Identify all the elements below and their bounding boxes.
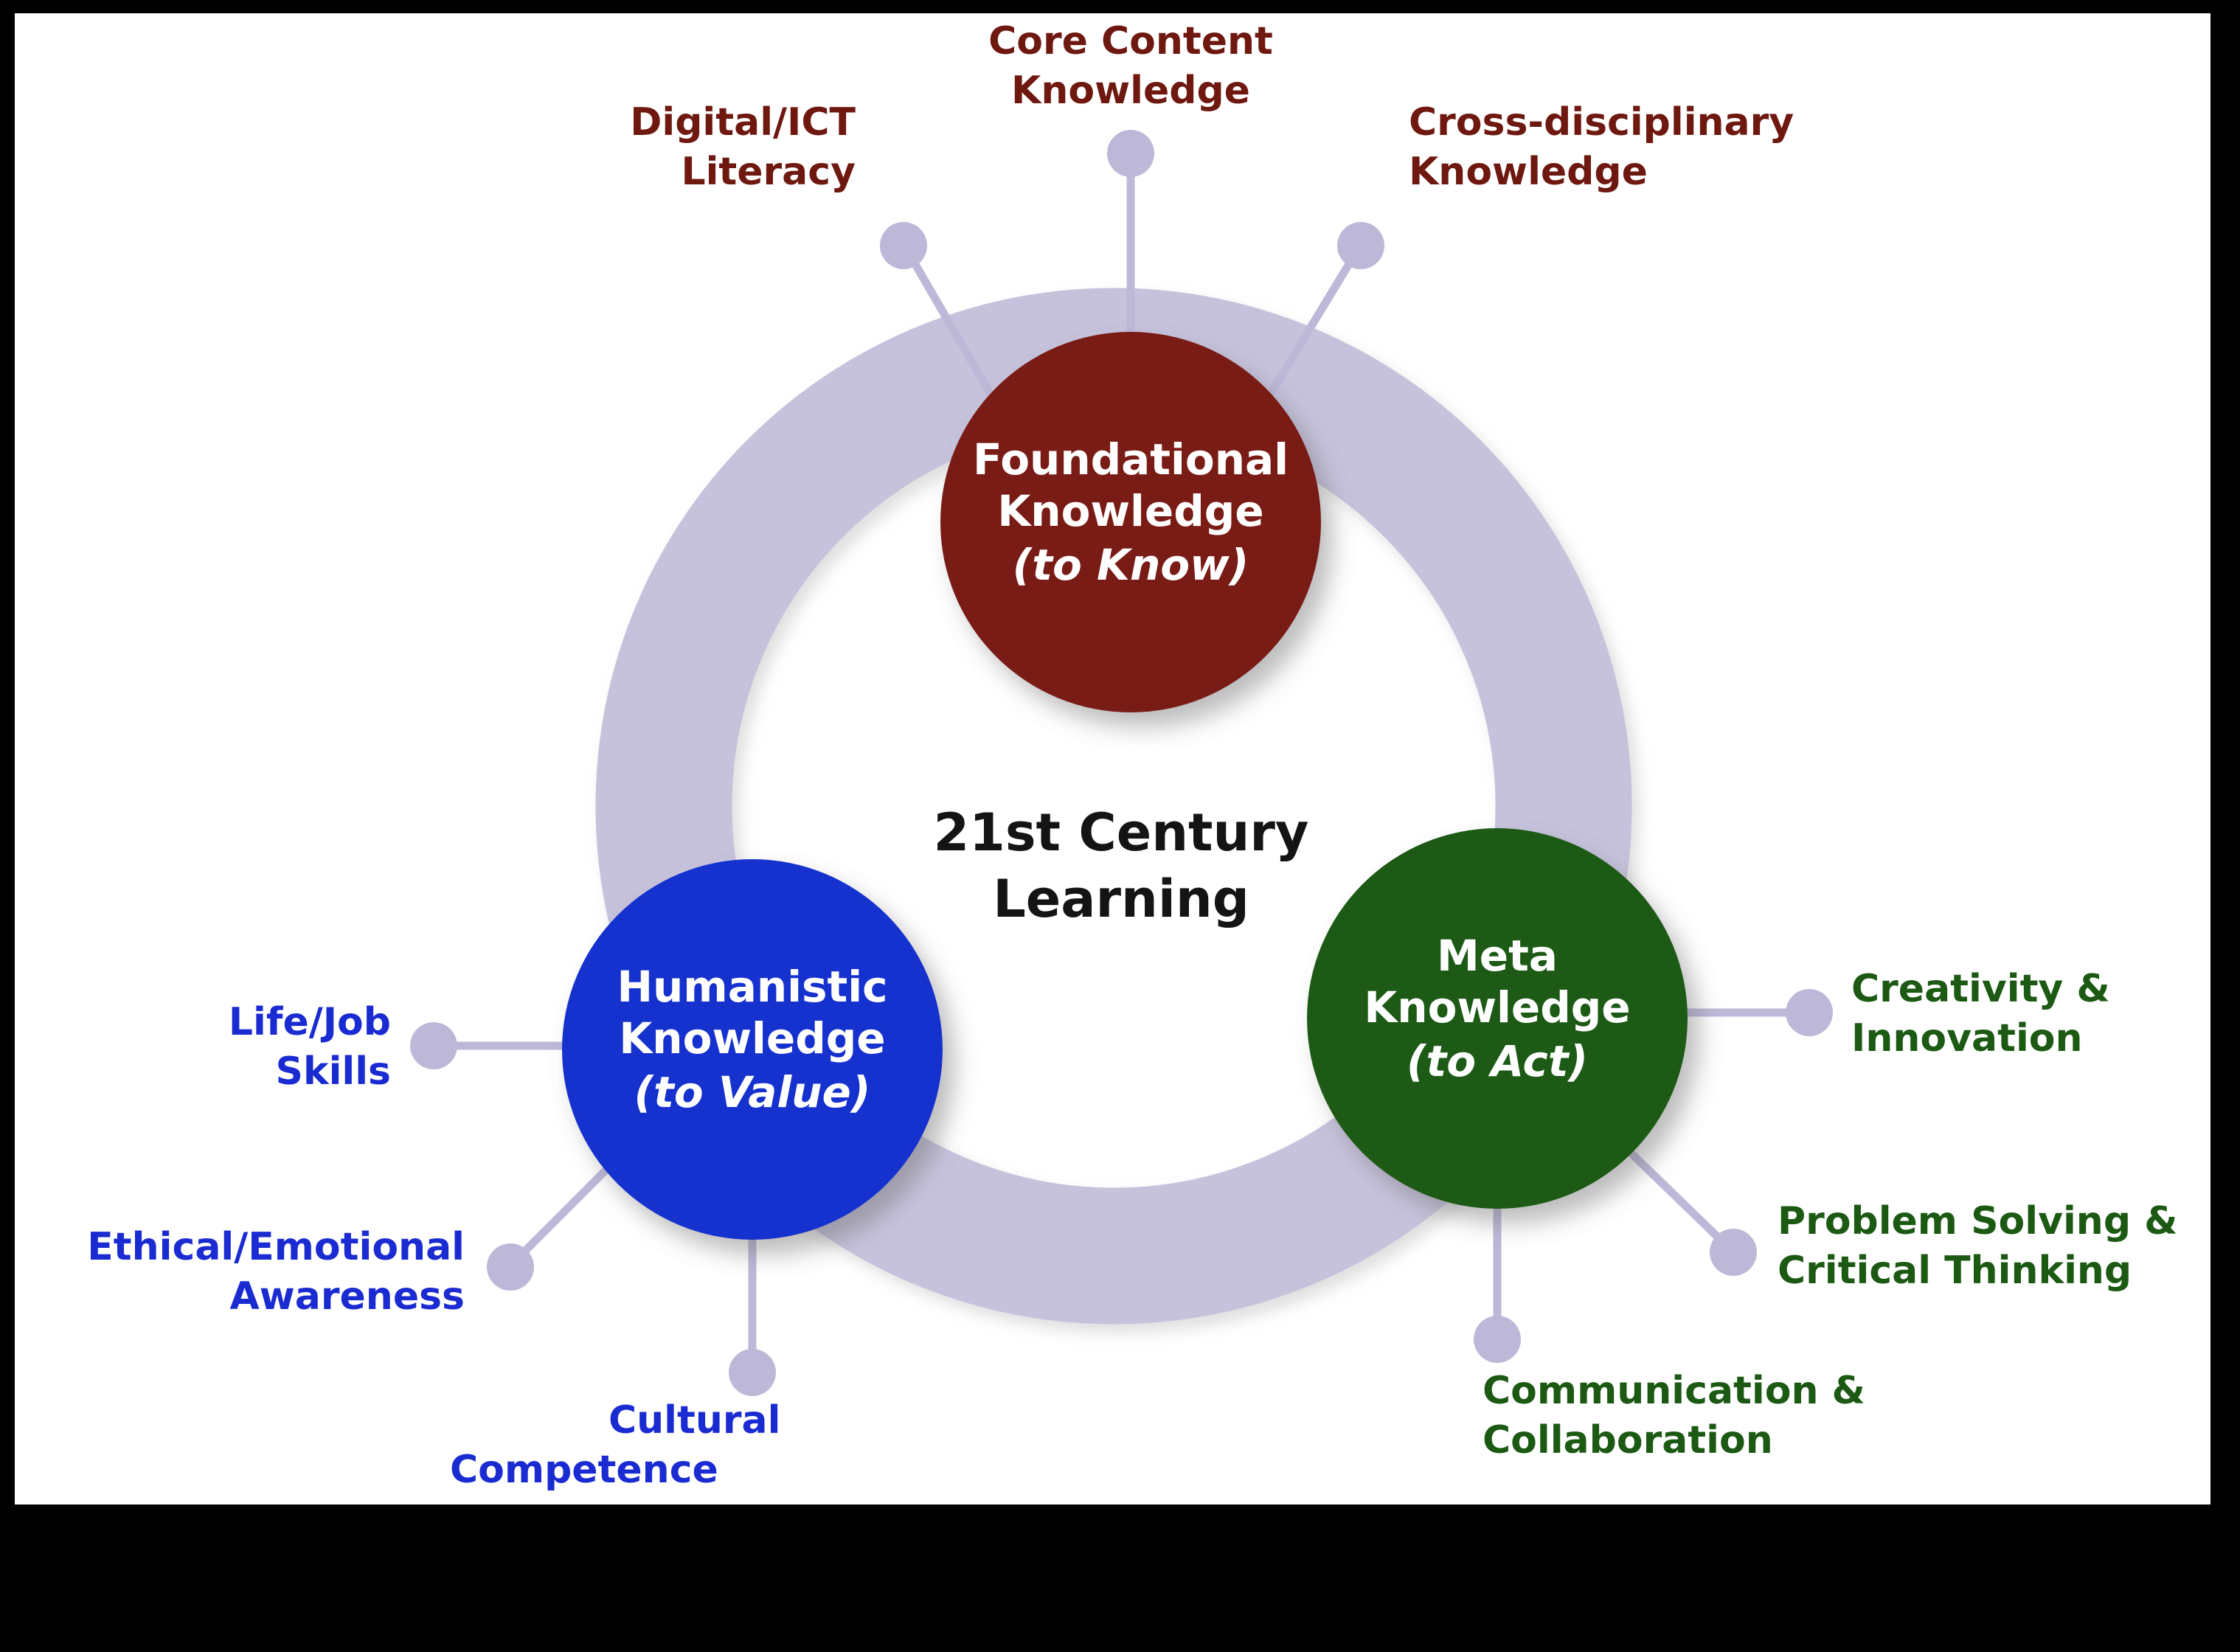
spoke-label-core-content-knowledge[interactable]: Core Content Knowledge <box>988 19 1273 113</box>
cultural-competence-line-2: Competence <box>450 1448 718 1492</box>
node-humanistic-knowledge[interactable]: Humanistic Knowledge (to Value) <box>562 859 943 1240</box>
ethical-emotional-awareness-line-1: Ethical/Emotional <box>87 1225 465 1269</box>
spoke-label-ethical-emotional-awareness[interactable]: Ethical/Emotional Awareness <box>87 1225 465 1319</box>
connector-dot-creativity-innovation <box>1786 989 1833 1036</box>
cross-disciplinary-knowledge-line-2: Knowledge <box>1409 150 1648 194</box>
spoke-label-creativity-innovation[interactable]: Creativity & Innovation <box>1851 967 2110 1061</box>
digital-ict-literacy-line-1: Digital/ICT <box>630 100 856 145</box>
creativity-innovation-line-2: Innovation <box>1851 1016 2083 1061</box>
cross-disciplinary-knowledge-line-1: Cross-disciplinary <box>1409 100 1794 145</box>
center-title-line-2: Learning <box>993 869 1249 929</box>
spoke-label-cross-disciplinary-knowledge[interactable]: Cross-disciplinary Knowledge <box>1409 100 1794 194</box>
foundational-knowledge-label-line-1: Foundational <box>973 434 1289 485</box>
communication-collaboration-line-2: Collaboration <box>1483 1418 1773 1462</box>
spoke-label-life-job-skills[interactable]: Life/Job Skills <box>229 1000 391 1094</box>
humanistic-knowledge-label-line-3: (to Value) <box>634 1067 871 1117</box>
connector-dot-cultural-competence <box>729 1349 776 1396</box>
creativity-innovation-line-1: Creativity & <box>1851 967 2110 1011</box>
center-title: 21st Century Learning <box>933 802 1308 929</box>
21st-century-learning-diagram: 21st Century Learning Foundational Knowl… <box>15 13 2210 1504</box>
diagram-canvas: 21st Century Learning Foundational Knowl… <box>15 13 2210 1504</box>
spoke-label-communication-collaboration[interactable]: Communication & Collaboration <box>1483 1369 1865 1462</box>
core-content-knowledge-line-1: Core Content <box>988 19 1273 63</box>
problem-solving-critical-thinking-line-1: Problem Solving & <box>1778 1199 2178 1243</box>
humanistic-knowledge-label-line-2: Knowledge <box>619 1013 885 1063</box>
connector-dot-core-content-knowledge <box>1107 130 1154 177</box>
connector-dot-problem-solving-critical-thinking <box>1710 1229 1757 1276</box>
ethical-emotional-awareness-line-2: Awareness <box>230 1274 465 1319</box>
connector-dot-ethical-emotional-awareness <box>487 1243 534 1291</box>
core-content-knowledge-line-2: Knowledge <box>1011 69 1250 113</box>
meta-knowledge-label-line-3: (to Act) <box>1407 1036 1588 1086</box>
spoke-label-problem-solving-critical-thinking[interactable]: Problem Solving & Critical Thinking <box>1778 1199 2178 1293</box>
foundational-knowledge-label-line-3: (to Know) <box>1013 540 1249 590</box>
connector-dot-life-job-skills <box>410 1022 457 1069</box>
communication-collaboration-line-1: Communication & <box>1483 1369 1865 1413</box>
problem-solving-critical-thinking-line-2: Critical Thinking <box>1778 1249 2132 1293</box>
connector-line-ethical-emotional-awareness <box>516 1171 605 1260</box>
image-frame: 21st Century Learning Foundational Knowl… <box>0 0 2240 1652</box>
meta-knowledge-label-line-1: Meta <box>1437 931 1558 981</box>
meta-knowledge-label-line-2: Knowledge <box>1364 982 1630 1032</box>
life-job-skills-line-1: Life/Job <box>229 1000 391 1044</box>
humanistic-knowledge-label-line-1: Humanistic <box>617 962 887 1012</box>
connector-dot-digital-ict-literacy <box>880 222 927 269</box>
foundational-knowledge-label-line-2: Knowledge <box>997 486 1263 536</box>
connector-dot-communication-collaboration <box>1474 1316 1521 1363</box>
center-title-line-1: 21st Century <box>933 802 1308 863</box>
spoke-label-digital-ict-literacy[interactable]: Digital/ICT Literacy <box>630 100 856 194</box>
spoke-label-cultural-competence[interactable]: Cultural Competence <box>450 1398 780 1492</box>
node-foundational-knowledge[interactable]: Foundational Knowledge (to Know) <box>940 332 1321 712</box>
cultural-competence-line-1: Cultural <box>608 1398 780 1443</box>
connector-dot-cross-disciplinary-knowledge <box>1337 222 1384 269</box>
digital-ict-literacy-line-2: Literacy <box>681 150 856 194</box>
node-meta-knowledge[interactable]: Meta Knowledge (to Act) <box>1307 828 1688 1209</box>
life-job-skills-line-2: Skills <box>276 1049 391 1094</box>
